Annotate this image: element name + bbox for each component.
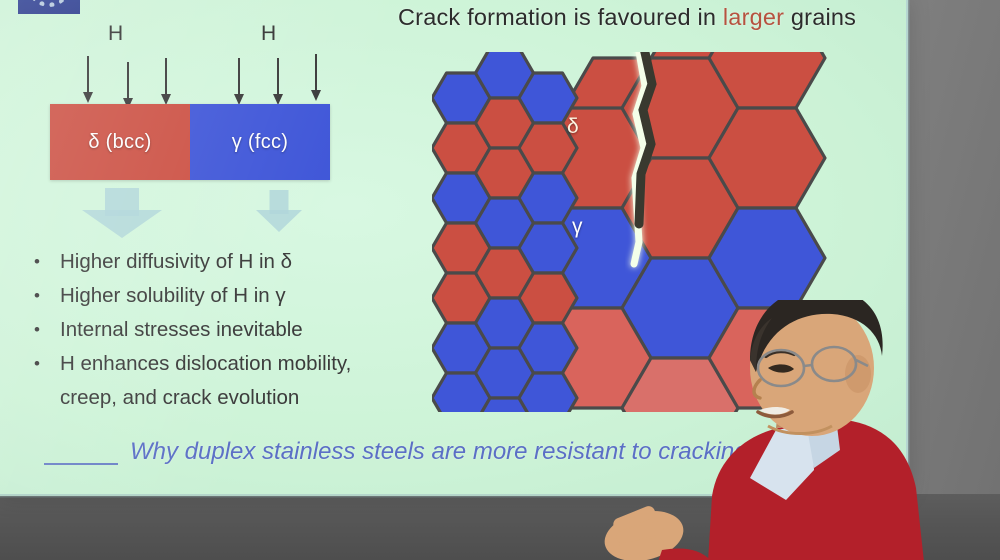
bullet-spacer [30, 382, 60, 413]
phase-bar-delta: δ (bcc) [50, 104, 190, 180]
bullet-text: Higher solubility of H in γ [60, 280, 430, 311]
grain-label-delta: δ [567, 115, 579, 139]
bullet-text: H enhances dislocation mobility, [60, 348, 430, 379]
bullet-text: creep, and crack evolution [60, 382, 430, 413]
h-flux-arrow-5 [272, 58, 284, 106]
phase-bar-gamma: γ (fcc) [190, 104, 330, 180]
bullet-item: • Internal stresses inevitable [30, 314, 430, 345]
slide-title: Crack formation is favoured in larger gr… [398, 4, 856, 31]
hydrogen-label-gamma: H [261, 22, 276, 46]
h-flux-arrow-6 [310, 54, 322, 102]
bullet-text: Higher diffusivity of H in δ [60, 246, 430, 277]
bullet-marker-icon: • [30, 348, 60, 379]
h-flux-arrow-2 [122, 62, 134, 110]
bullet-item: • Higher solubility of H in γ [30, 280, 430, 311]
bullet-marker-icon: • [30, 246, 60, 277]
footer-rule-left [44, 463, 118, 465]
grain-label-gamma: γ [572, 215, 583, 239]
presenter [600, 300, 960, 560]
h-flux-arrow-4 [233, 58, 245, 106]
bullet-item: • Higher diffusivity of H in δ [30, 246, 430, 277]
slide-title-suffix: grains [784, 4, 856, 30]
phase-bar: δ (bcc) γ (fcc) [50, 104, 330, 180]
lecture-photo-scene: Crack formation is favoured in larger gr… [0, 0, 1000, 560]
bullet-item: • H enhances dislocation mobility, [30, 348, 430, 379]
crest-wreath-icon [26, 0, 72, 7]
bullet-text: Internal stresses inevitable [60, 314, 430, 345]
hydrogen-label-delta: H [108, 22, 123, 46]
bullet-marker-icon: • [30, 314, 60, 345]
h-flux-arrow-1 [82, 56, 94, 104]
bullet-marker-icon: • [30, 280, 60, 311]
block-arrow-left [82, 188, 162, 238]
university-crest-logo [18, 0, 80, 14]
slide-title-prefix: Crack formation is favoured in [398, 4, 723, 30]
slide-title-highlight: larger [723, 4, 784, 30]
h-flux-arrow-3 [160, 58, 172, 106]
bullet-list: • Higher diffusivity of H in δ • Higher … [30, 246, 430, 416]
bullet-item-continuation: creep, and crack evolution [30, 382, 430, 413]
block-arrow-right [255, 190, 303, 234]
